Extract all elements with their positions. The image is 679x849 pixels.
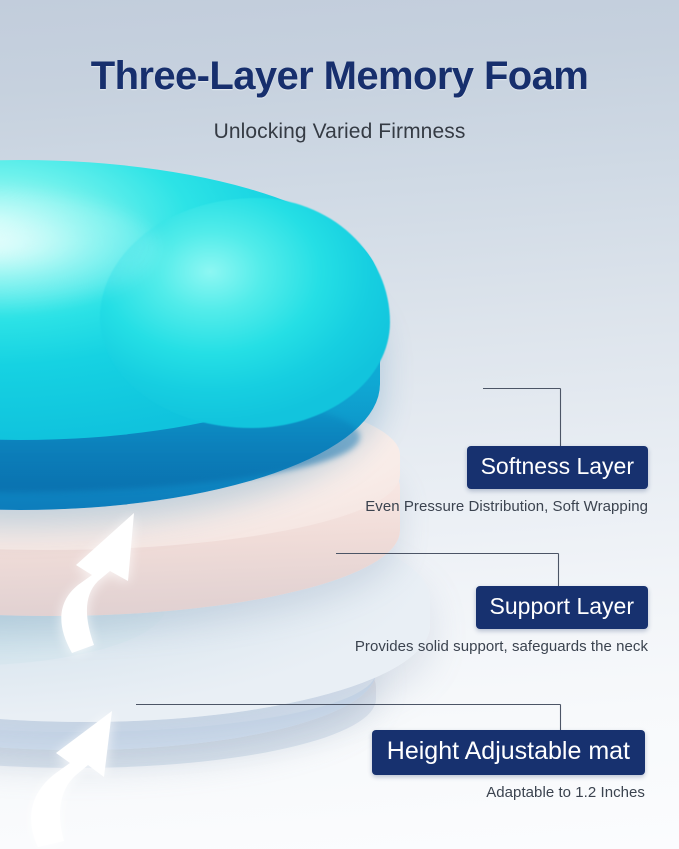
arrow-up-icon: [32, 505, 162, 655]
status-badge: Softness Layer: [467, 446, 648, 489]
page-subtitle: Unlocking Varied Firmness: [0, 120, 679, 144]
callout-caption: Even Pressure Distribution, Soft Wrappin…: [365, 498, 648, 515]
header: Three-Layer Memory Foam Unlocking Varied…: [0, 0, 679, 144]
callout-support-layer: Support Layer Provides solid support, sa…: [355, 586, 648, 655]
product-infographic: Three-Layer Memory Foam Unlocking Varied…: [0, 0, 679, 849]
callout-height-adjustable-mat: Height Adjustable mat Adaptable to 1.2 I…: [372, 730, 645, 801]
arrow-up-icon: [16, 705, 136, 849]
callout-caption: Adaptable to 1.2 Inches: [372, 784, 645, 801]
status-badge: Height Adjustable mat: [372, 730, 645, 775]
callout-softness-layer: Softness Layer Even Pressure Distributio…: [365, 446, 648, 515]
callout-caption: Provides solid support, safeguards the n…: [355, 638, 648, 655]
status-badge: Support Layer: [476, 586, 648, 629]
page-title: Three-Layer Memory Foam: [0, 54, 679, 98]
